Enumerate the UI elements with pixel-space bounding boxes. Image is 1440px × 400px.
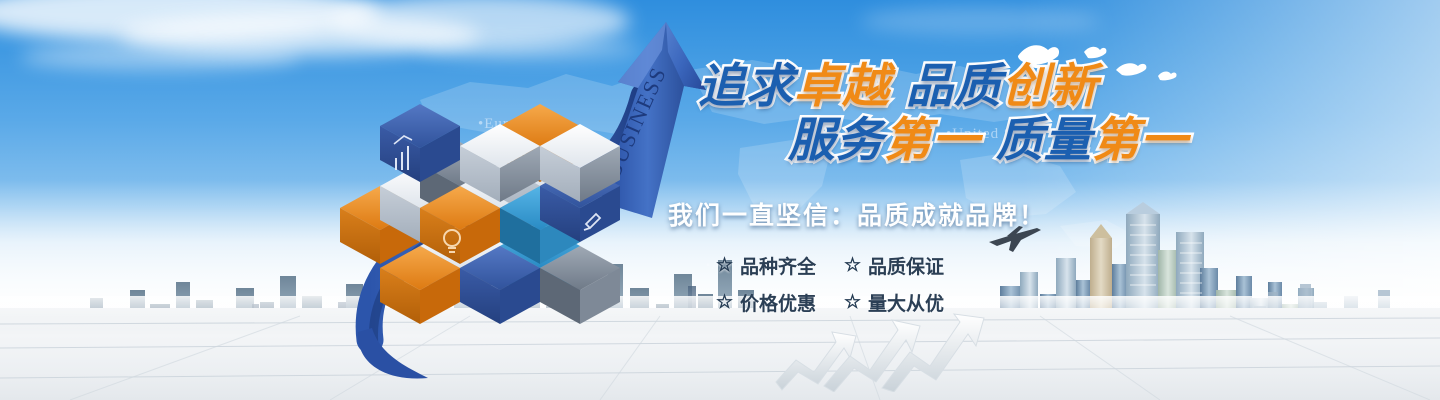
headline-line-1: 追求卓越品质创新 <box>660 58 1220 114</box>
dove-icon <box>1084 47 1106 58</box>
cloud-shape <box>20 44 300 70</box>
headline-line-2: 服务第一质量第一 <box>660 112 1220 168</box>
headline-l2-seg3: 质量 <box>996 113 1092 166</box>
feature-item: ☆ 价格优惠 <box>716 289 834 316</box>
feature-item: ☆ 量大从优 <box>844 289 962 316</box>
feature-item: ☆ 品种齐全 <box>716 252 834 279</box>
headline-l1-seg3: 品质 <box>906 59 1002 112</box>
headline-l1-seg2: 卓越 <box>794 59 890 112</box>
headline: 追求卓越品质创新 服务第一质量第一 <box>660 58 1220 168</box>
star-icon: ☆ <box>844 293 861 312</box>
feature-label: 价格优惠 <box>740 289 816 316</box>
feature-item: ☆ 品质保证 <box>844 252 962 279</box>
plaza-floor <box>0 308 1440 400</box>
headline-l2-seg4: 第一 <box>1092 113 1188 166</box>
headline-l2-seg2: 第一 <box>884 113 980 166</box>
star-icon: ☆ <box>844 256 861 275</box>
feature-list: ☆ 品种齐全 ☆ 品质保证 ☆ 价格优惠 ☆ 量大从优 <box>660 252 960 316</box>
headline-l2-seg1: 服务 <box>788 113 884 166</box>
headline-l1-seg1: 追求 <box>698 59 794 112</box>
banner-copy: 追求卓越品质创新 服务第一质量第一 我们一直坚信：品质成就品牌！ ☆ 品种齐全 … <box>660 58 1220 316</box>
headline-l1-seg4: 创新 <box>1002 59 1098 112</box>
feature-label: 品种齐全 <box>740 252 816 279</box>
business-cube-arrow-graphic: BUSINESS <box>300 10 720 390</box>
star-icon: ☆ <box>716 256 733 275</box>
growth-arrow-icon <box>770 312 1000 392</box>
feature-label: 品质保证 <box>868 252 944 279</box>
subtitle: 我们一直坚信：品质成就品牌！ <box>660 196 1220 232</box>
promotional-banner: •Europe •United States na •Australia na <box>0 0 1440 400</box>
star-icon: ☆ <box>716 293 733 312</box>
feature-label: 量大从优 <box>868 289 944 316</box>
